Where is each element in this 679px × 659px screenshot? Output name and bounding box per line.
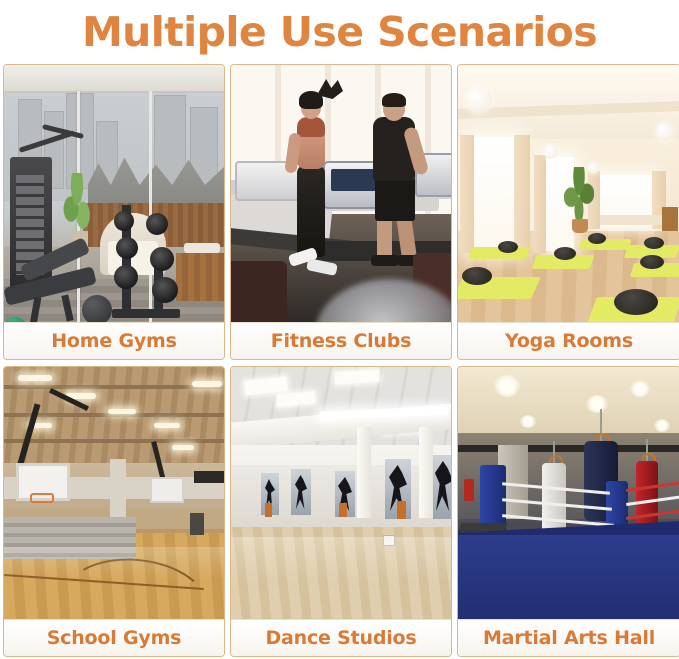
caption-fitness-clubs: Fitness Clubs	[231, 322, 451, 359]
curtain	[460, 135, 474, 253]
tall-window	[468, 137, 516, 251]
ceiling-soffit	[4, 65, 224, 93]
hanging-plant	[62, 173, 92, 233]
weight-plate	[150, 247, 174, 271]
caption-school-gyms: School Gyms	[4, 619, 224, 656]
ceiling-light	[172, 445, 194, 450]
wood-counter	[176, 253, 224, 301]
pendant-lamp	[656, 123, 674, 141]
walker-leg	[377, 217, 392, 259]
page-title: Multiple Use Scenarios	[82, 8, 597, 56]
photo-school-gyms	[4, 367, 224, 619]
scenario-card-yoga-rooms[interactable]: Yoga Rooms	[457, 64, 679, 360]
photo-dance-studios	[231, 367, 451, 619]
floor-reflection	[231, 537, 451, 619]
scenario-card-school-gyms[interactable]: School Gyms	[3, 366, 225, 657]
poster-accent	[397, 501, 406, 519]
wall-bench	[600, 215, 670, 225]
fitness-club-scene	[231, 65, 451, 322]
photo-yoga-rooms	[458, 65, 679, 322]
curtain	[534, 155, 546, 253]
ceiling-light	[154, 423, 180, 428]
curtain	[514, 135, 530, 253]
caption-label: Home Gyms	[51, 330, 177, 352]
scenario-card-fitness-clubs[interactable]: Fitness Clubs	[230, 64, 452, 360]
photo-fitness-clubs	[231, 65, 451, 322]
pendant-lamp	[466, 87, 492, 113]
fire-extinguisher	[464, 479, 474, 501]
yoga-cushion	[614, 289, 658, 315]
caption-label: Yoga Rooms	[505, 330, 633, 352]
mirror-column	[419, 427, 433, 518]
yoga-room-scene	[458, 65, 679, 322]
yoga-cushion	[644, 237, 664, 249]
caption-label: Martial Arts Hall	[483, 627, 655, 649]
medicine-ball	[82, 295, 112, 322]
poster-accent	[339, 503, 347, 517]
roof-truss	[4, 385, 224, 389]
roof-truss	[4, 439, 224, 443]
poster-accent	[265, 503, 272, 517]
ceiling-spotlight	[520, 415, 536, 428]
home-gym-scene	[4, 65, 224, 322]
backboard	[150, 477, 184, 503]
yoga-cushion	[554, 247, 576, 260]
mirror-column	[357, 427, 371, 518]
caption-label: Dance Studios	[265, 627, 416, 649]
folded-towel	[184, 243, 220, 253]
yoga-cushion	[462, 267, 492, 285]
wood-cabinet	[662, 207, 678, 231]
walker-hair	[382, 93, 406, 107]
yoga-cushion	[640, 255, 664, 269]
ceiling-spotlight	[654, 419, 670, 432]
ceiling-light	[192, 381, 222, 387]
walker-shorts	[375, 177, 415, 221]
dance-studio-scene	[231, 367, 451, 619]
floor-reflection	[4, 547, 224, 619]
ceiling-light	[108, 409, 136, 414]
basketball-rim	[30, 493, 54, 503]
scenario-grid: Home Gyms	[0, 64, 679, 657]
photo-martial-arts-hall	[458, 367, 679, 619]
yoga-cushion	[588, 233, 606, 244]
martial-arts-scene	[458, 367, 679, 619]
ceiling-spotlight	[494, 375, 520, 397]
caption-yoga-rooms: Yoga Rooms	[458, 322, 679, 359]
photo-home-gyms	[4, 65, 224, 322]
yoga-cushion	[498, 241, 518, 253]
white-punching-bag	[542, 463, 566, 535]
ceiling-spotlight	[630, 381, 650, 397]
foreground-equipment	[231, 261, 287, 322]
caption-home-gyms: Home Gyms	[4, 322, 224, 359]
ceiling-light	[18, 375, 52, 381]
weight-plate	[152, 277, 178, 303]
school-gym-scene	[4, 367, 224, 619]
weight-plate	[146, 213, 168, 235]
potted-plant	[564, 167, 594, 225]
plant-pot	[572, 219, 588, 233]
scenario-card-dance-studios[interactable]: Dance Studios	[230, 366, 452, 657]
scenario-card-home-gyms[interactable]: Home Gyms	[3, 64, 225, 360]
blue-ring-canvas	[458, 535, 679, 619]
scenario-card-martial-arts-hall[interactable]: Martial Arts Hall	[457, 366, 679, 657]
weight-plate	[114, 265, 138, 289]
doorway	[190, 513, 204, 535]
weight-plate	[114, 211, 134, 231]
sports-bra	[297, 117, 325, 137]
scenarios-page: Multiple Use Scenarios	[0, 0, 679, 659]
title-bar: Multiple Use Scenarios	[0, 0, 679, 64]
weight-plate	[116, 237, 138, 259]
runner-legs	[297, 165, 325, 257]
caption-martial-arts-hall: Martial Arts Hall	[458, 619, 679, 656]
caption-label: School Gyms	[47, 627, 182, 649]
walker-shoe	[371, 255, 399, 266]
caption-label: Fitness Clubs	[271, 330, 412, 352]
pendant-lamp	[544, 145, 558, 159]
ceiling-spotlight	[586, 395, 608, 413]
scoreboard	[194, 471, 224, 483]
rack-base	[112, 309, 180, 318]
ceiling	[458, 367, 679, 439]
caption-dance-studios: Dance Studios	[231, 619, 451, 656]
